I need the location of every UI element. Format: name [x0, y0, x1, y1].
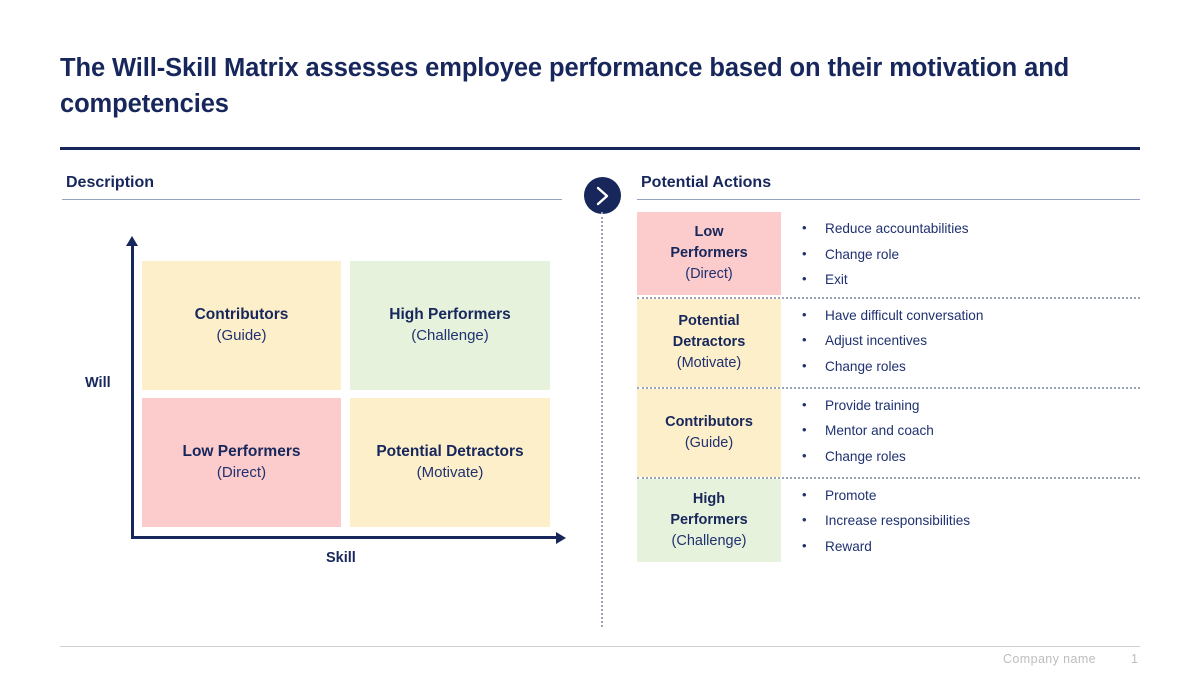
quadrant-action: (Guide): [216, 326, 266, 346]
chip-title-line1: High: [693, 489, 725, 510]
list-item: Have difficult conversation: [800, 309, 1140, 323]
y-axis-line: [131, 243, 134, 538]
page-title: The Will-Skill Matrix assesses employee …: [60, 50, 1070, 122]
chip-title-line1: Contributors: [665, 412, 753, 433]
list-item: Reward: [800, 540, 1140, 554]
y-axis-arrowhead-icon: [126, 236, 138, 246]
section-header-description: Description: [66, 174, 154, 192]
chip-title-line2: Detractors: [673, 332, 746, 353]
axis-label-will: Will: [85, 375, 111, 391]
quadrant-contributors[interactable]: Contributors (Guide): [142, 261, 341, 390]
action-row-low-performers[interactable]: Low Performers (Direct) Reduce accountab…: [637, 212, 1140, 297]
chip-subtitle: (Challenge): [672, 531, 747, 552]
quadrant-low-performers[interactable]: Low Performers (Direct): [142, 398, 341, 527]
quadrant-title: Low Performers: [182, 442, 300, 463]
quadrant-potential-detractors[interactable]: Potential Detractors (Motivate): [350, 398, 550, 527]
chip-title-line2: Performers: [670, 510, 747, 531]
chip-subtitle: (Direct): [685, 264, 733, 285]
action-chip: Potential Detractors (Motivate): [637, 299, 781, 387]
vertical-dotted-divider: [601, 212, 603, 627]
list-item: Increase responsibilities: [800, 514, 1140, 528]
quadrant-title: Contributors: [195, 305, 289, 326]
list-item: Change roles: [800, 450, 1140, 464]
action-bullet-list: Promote Increase responsibilities Reward: [800, 479, 1140, 564]
list-item: Change role: [800, 248, 1140, 262]
chip-title-line1: Low: [695, 222, 724, 243]
action-chip: Low Performers (Direct): [637, 212, 781, 295]
slide-canvas: The Will-Skill Matrix assesses employee …: [0, 0, 1200, 675]
quadrant-high-performers[interactable]: High Performers (Challenge): [350, 261, 550, 390]
title-divider: [60, 147, 1140, 150]
action-row-high-performers[interactable]: High Performers (Challenge) Promote Incr…: [637, 479, 1140, 564]
action-chip: Contributors (Guide): [637, 389, 781, 477]
list-item: Adjust incentives: [800, 334, 1140, 348]
chip-subtitle: (Motivate): [677, 353, 741, 374]
section-header-potential-actions: Potential Actions: [641, 174, 771, 192]
potential-actions-table: Low Performers (Direct) Reduce accountab…: [637, 212, 1140, 564]
section-rule-left: [62, 199, 562, 200]
list-item: Provide training: [800, 399, 1140, 413]
x-axis-line: [131, 536, 559, 539]
quadrant-action: (Motivate): [417, 463, 484, 483]
action-row-contributors[interactable]: Contributors (Guide) Provide training Me…: [637, 389, 1140, 477]
action-chip: High Performers (Challenge): [637, 479, 781, 562]
quadrant-action: (Challenge): [411, 326, 489, 346]
footer-page-number: 1: [1131, 652, 1138, 666]
list-item: Promote: [800, 489, 1140, 503]
list-item: Exit: [800, 273, 1140, 287]
footer-divider: [60, 646, 1140, 647]
section-rule-right: [637, 199, 1140, 200]
footer-company-name: Company name: [1003, 652, 1096, 666]
quadrant-title: High Performers: [389, 305, 510, 326]
chip-title-line1: Potential: [678, 311, 739, 332]
chevron-right-icon: [584, 177, 621, 214]
chip-subtitle: (Guide): [685, 433, 733, 454]
action-bullet-list: Provide training Mentor and coach Change…: [800, 389, 1140, 477]
quadrant-action: (Direct): [217, 463, 266, 483]
action-bullet-list: Reduce accountabilities Change role Exit: [800, 212, 1140, 297]
list-item: Reduce accountabilities: [800, 222, 1140, 236]
x-axis-arrowhead-icon: [556, 532, 566, 544]
axis-label-skill: Skill: [326, 550, 356, 566]
list-item: Mentor and coach: [800, 424, 1140, 438]
chip-title-line2: Performers: [670, 243, 747, 264]
action-row-potential-detractors[interactable]: Potential Detractors (Motivate) Have dif…: [637, 299, 1140, 387]
action-bullet-list: Have difficult conversation Adjust incen…: [800, 299, 1140, 387]
list-item: Change roles: [800, 360, 1140, 374]
quadrant-title: Potential Detractors: [376, 442, 523, 463]
